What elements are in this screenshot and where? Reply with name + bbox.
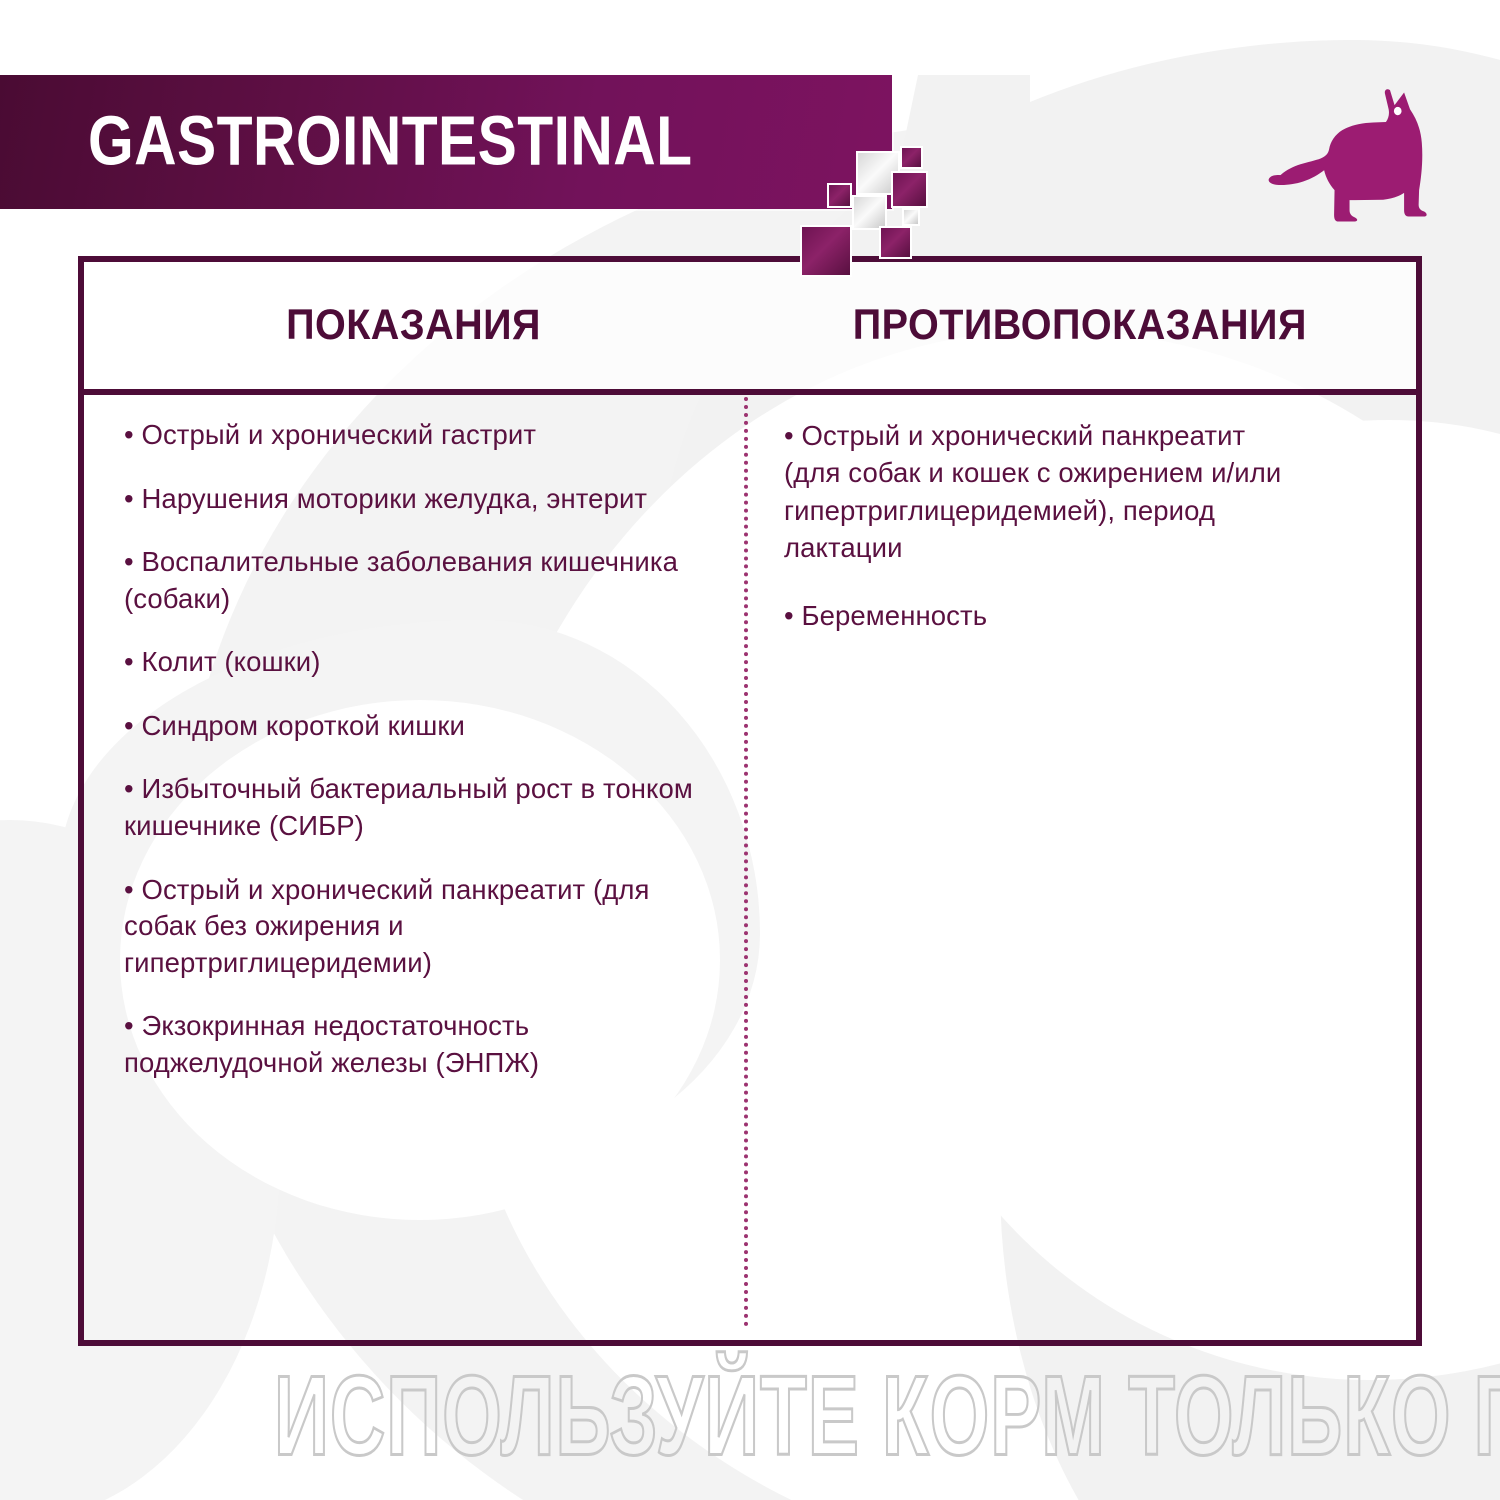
decor-square-gray-3 xyxy=(902,208,920,226)
footer-disclaimer-label: ИСПОЛЬЗУЙТЕ КОРМ ТОЛЬКО ПО НАЗНАЧЕНИЮ ВР… xyxy=(274,1360,1500,1473)
column-header-contraindications: ПРОТИВОПОКАЗАНИЯ xyxy=(744,262,1416,389)
indications-table: ПОКАЗАНИЯ ПРОТИВОПОКАЗАНИЯ • Острый и хр… xyxy=(78,256,1422,1346)
decor-square-purple-4 xyxy=(800,225,852,277)
list-item: • Колит (кошки) xyxy=(124,644,718,681)
column-header-indications: ПОКАЗАНИЯ xyxy=(84,262,744,389)
list-item: • Экзокринная недостаточность поджелудоч… xyxy=(124,1008,718,1081)
list-item: • Острый и хронический панкреатит (для с… xyxy=(784,417,1296,567)
table-header-row: ПОКАЗАНИЯ ПРОТИВОПОКАЗАНИЯ xyxy=(84,262,1416,395)
decor-square-purple-5 xyxy=(879,226,912,259)
cat-silhouette-icon xyxy=(1255,72,1455,222)
table-body: • Острый и хронический гастрит • Нарушен… xyxy=(84,395,1416,1340)
list-item: • Острый и хронический гастрит xyxy=(124,417,718,454)
column-header-indications-label: ПОКАЗАНИЯ xyxy=(287,301,542,350)
list-item: • Избыточный бактериальный рост в тонком… xyxy=(124,771,718,844)
decor-square-gray-2 xyxy=(852,195,887,230)
list-item: • Беременность xyxy=(784,597,1296,634)
list-item: • Воспалительные заболевания кишечника (… xyxy=(124,544,718,617)
column-indications: • Острый и хронический гастрит • Нарушен… xyxy=(84,395,744,1340)
column-header-contraindications-label: ПРОТИВОПОКАЗАНИЯ xyxy=(853,301,1307,350)
header-banner: GASTROINTESTINAL xyxy=(0,75,1000,209)
list-item: • Синдром короткой кишки xyxy=(124,708,718,745)
list-item: • Острый и хронический панкреатит (для с… xyxy=(124,872,718,982)
page-title: GASTROINTESTINAL xyxy=(88,106,693,176)
decor-square-purple-3 xyxy=(827,183,852,208)
column-divider xyxy=(744,397,748,1327)
footer-disclaimer: ИСПОЛЬЗУЙТЕ КОРМ ТОЛЬКО ПО НАЗНАЧЕНИЮ ВР… xyxy=(0,1360,1500,1456)
slide-root: GASTROINTESTINAL ПОКАЗАНИЯ ПРОТИВОПОКАЗА… xyxy=(0,0,1500,1500)
column-contraindications: • Острый и хронический панкреатит (для с… xyxy=(744,395,1416,1340)
decor-square-purple-2 xyxy=(891,171,928,208)
list-item: • Нарушения моторики желудка, энтерит xyxy=(124,481,718,518)
decor-square-purple-1 xyxy=(900,146,923,169)
